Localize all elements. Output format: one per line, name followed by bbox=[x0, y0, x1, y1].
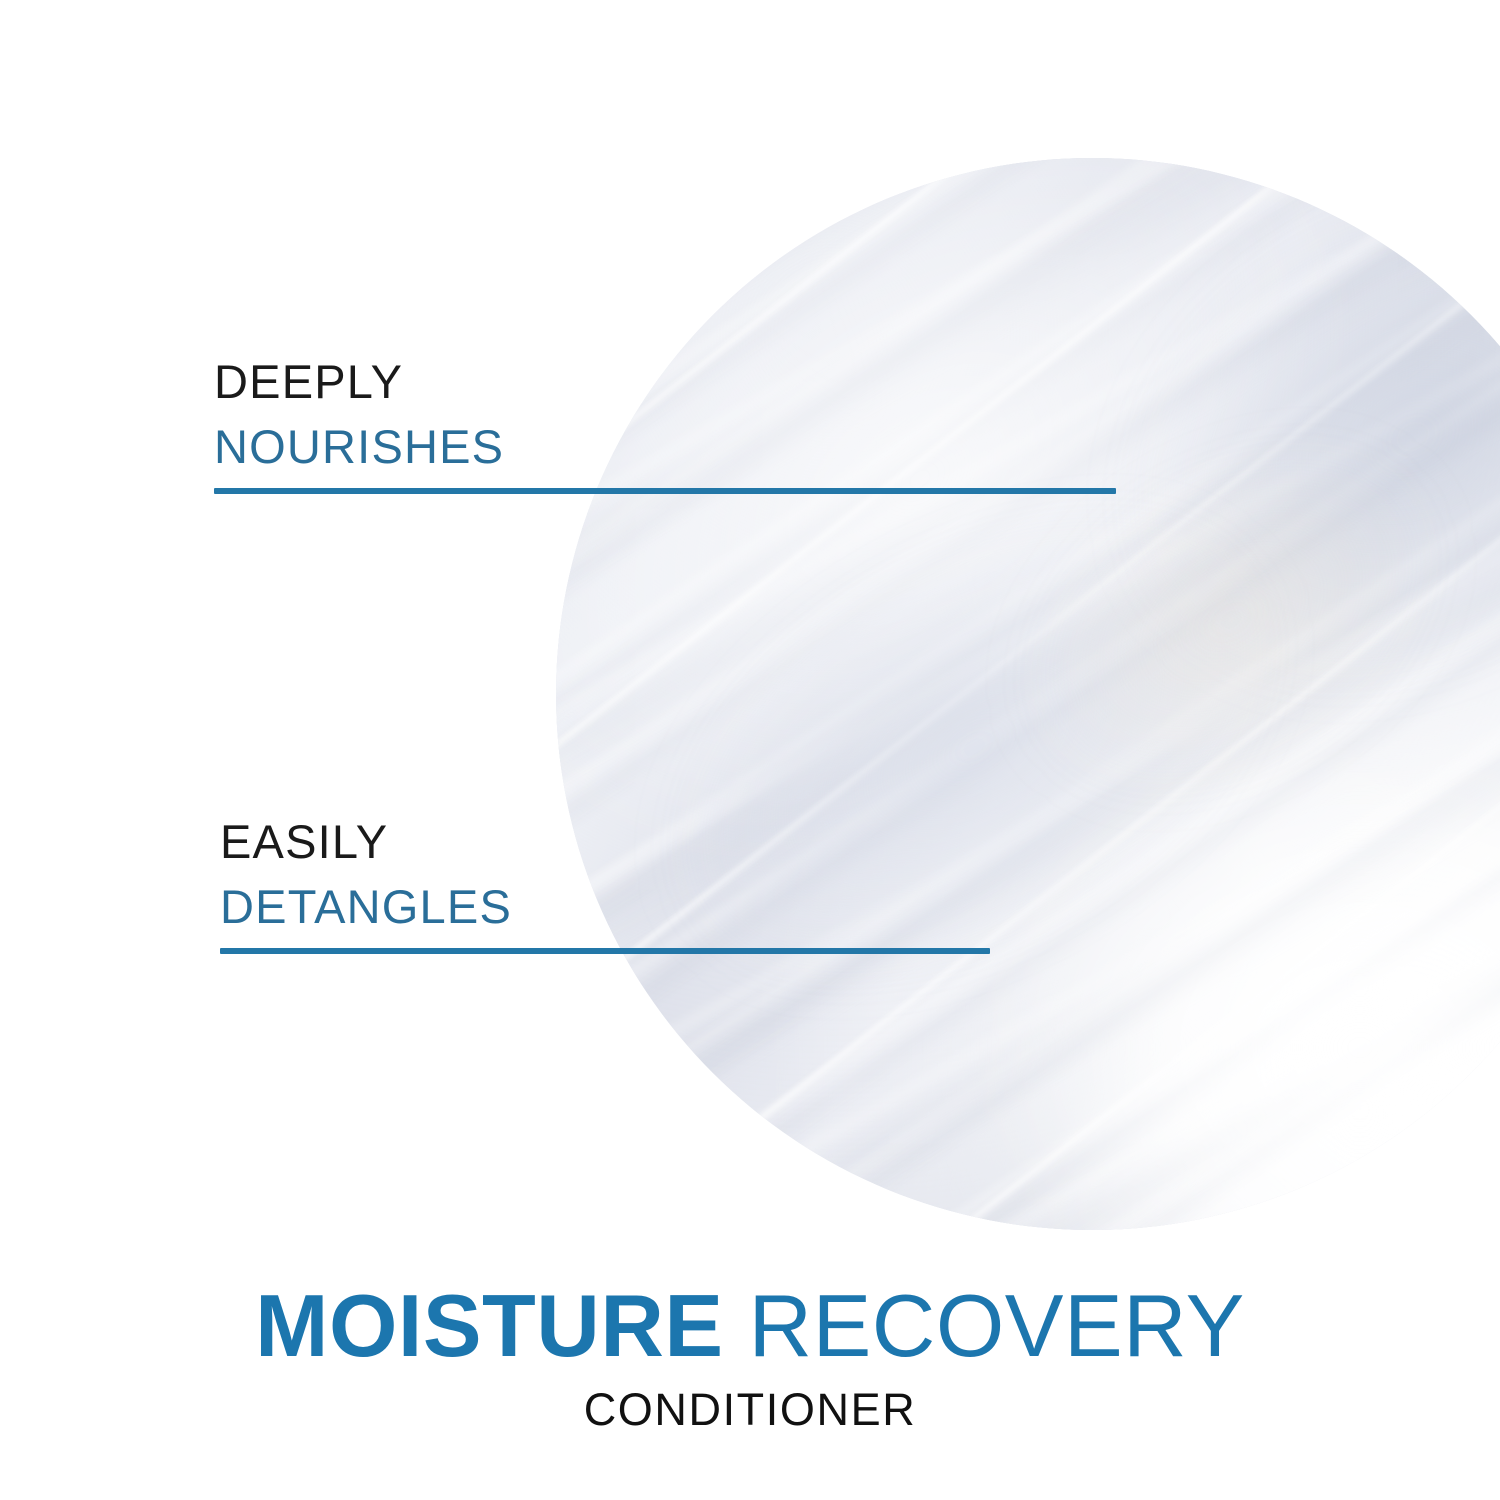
product-name-lockup: MOISTURE RECOVERY CONDITIONER bbox=[0, 1282, 1500, 1432]
claim-line-secondary: DETANGLES bbox=[220, 883, 990, 930]
claim-line-primary: DEEPLY bbox=[214, 358, 1116, 405]
claim-easily-detangles: EASILY DETANGLES bbox=[220, 818, 990, 954]
claim-line-primary: EASILY bbox=[220, 818, 990, 865]
product-subtitle: CONDITIONER bbox=[0, 1387, 1500, 1432]
product-title-light: RECOVERY bbox=[749, 1276, 1245, 1375]
conditioner-cream-swatch bbox=[556, 158, 1500, 1230]
claim-underline-rule bbox=[214, 488, 1116, 494]
product-title-strong: MOISTURE bbox=[255, 1276, 723, 1375]
claim-deeply-nourishes: DEEPLY NOURISHES bbox=[214, 358, 1116, 494]
product-title: MOISTURE RECOVERY bbox=[0, 1282, 1500, 1370]
claim-underline-rule bbox=[220, 948, 990, 954]
product-marketing-image: DEEPLY NOURISHES EASILY DETANGLES MOISTU… bbox=[0, 0, 1500, 1500]
claim-line-secondary: NOURISHES bbox=[214, 423, 1116, 470]
